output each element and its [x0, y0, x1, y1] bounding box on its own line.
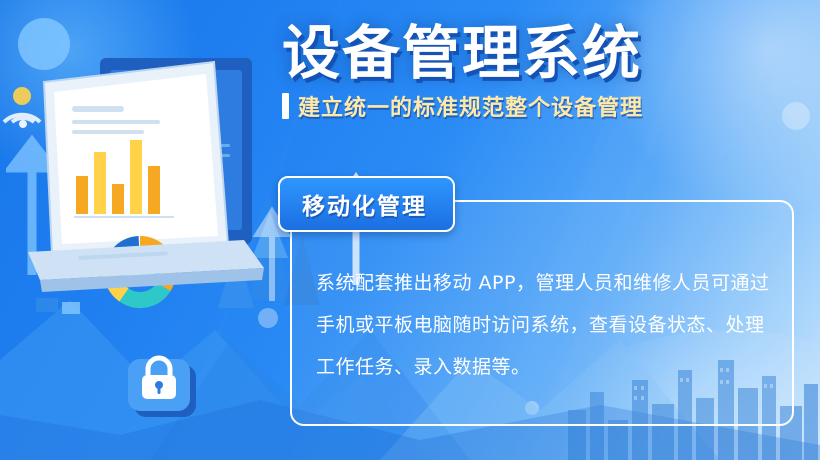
mobile-security-lock-icon: [120, 345, 212, 425]
headline-block: 设备管理系统 建立统一的标准规范整个设备管理: [282, 24, 802, 122]
subtitle-row: 建立统一的标准规范整个设备管理: [282, 90, 802, 122]
content-card: 移动化管理 系统配套推出移动 APP，管理人员和维修人员可通过手机或平板电脑随时…: [290, 200, 794, 426]
card-body-text: 系统配套推出移动 APP，管理人员和维修人员可通过手机或平板电脑随时访问系统，查…: [316, 262, 770, 388]
laptop-dashboard-illustration: [18, 40, 288, 330]
card-tag-label: 移动化管理: [302, 193, 427, 219]
card-tag-badge: 移动化管理: [278, 176, 455, 232]
poster-title: 设备管理系统: [282, 24, 802, 82]
poster-subtitle: 建立统一的标准规范整个设备管理: [298, 90, 643, 122]
poster-canvas: 设备管理系统 建立统一的标准规范整个设备管理 移动化管理 系统配套推出移动 AP…: [0, 0, 820, 460]
subtitle-accent-bar: [282, 93, 289, 119]
